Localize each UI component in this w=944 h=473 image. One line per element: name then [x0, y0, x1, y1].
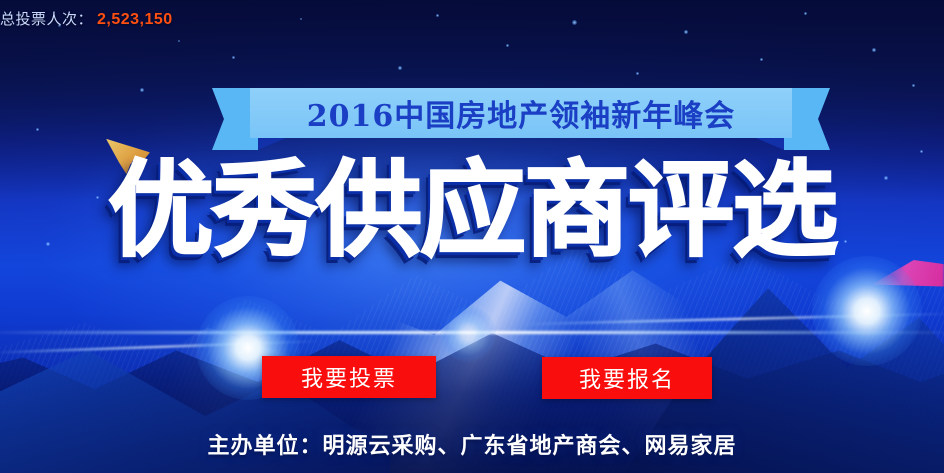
event-title: 2016中国房地产领袖新年峰会 — [307, 91, 736, 135]
vote-counter-label: 总投票人次： — [0, 11, 93, 28]
event-ribbon-banner: 2016中国房地产领袖新年峰会 — [212, 88, 830, 150]
signup-button[interactable]: 我要报名 — [542, 357, 712, 399]
light-orb-right — [812, 256, 922, 366]
vote-button[interactable]: 我要投票 — [262, 356, 436, 398]
ribbon-body: 2016中国房地产领袖新年峰会 — [250, 88, 792, 138]
vote-button-label: 我要投票 — [301, 361, 397, 393]
light-orb-center — [440, 306, 496, 362]
promo-banner: 总投票人次：2,523,150 2016中国房地产领袖新年峰会 优秀供应商评选 … — [0, 0, 944, 473]
signup-button-label: 我要报名 — [579, 362, 675, 394]
ribbon-fold-left — [258, 138, 286, 150]
ribbon-fold-right — [756, 138, 784, 150]
vote-counter: 总投票人次：2,523,150 — [0, 8, 173, 29]
vote-counter-value: 2,523,150 — [97, 11, 173, 28]
sponsors-line: 主办单位：明源云采购、广东省地产商会、网易家居 — [0, 428, 944, 460]
sponsors-text: 主办单位：明源云采购、广东省地产商会、网易家居 — [207, 433, 736, 458]
